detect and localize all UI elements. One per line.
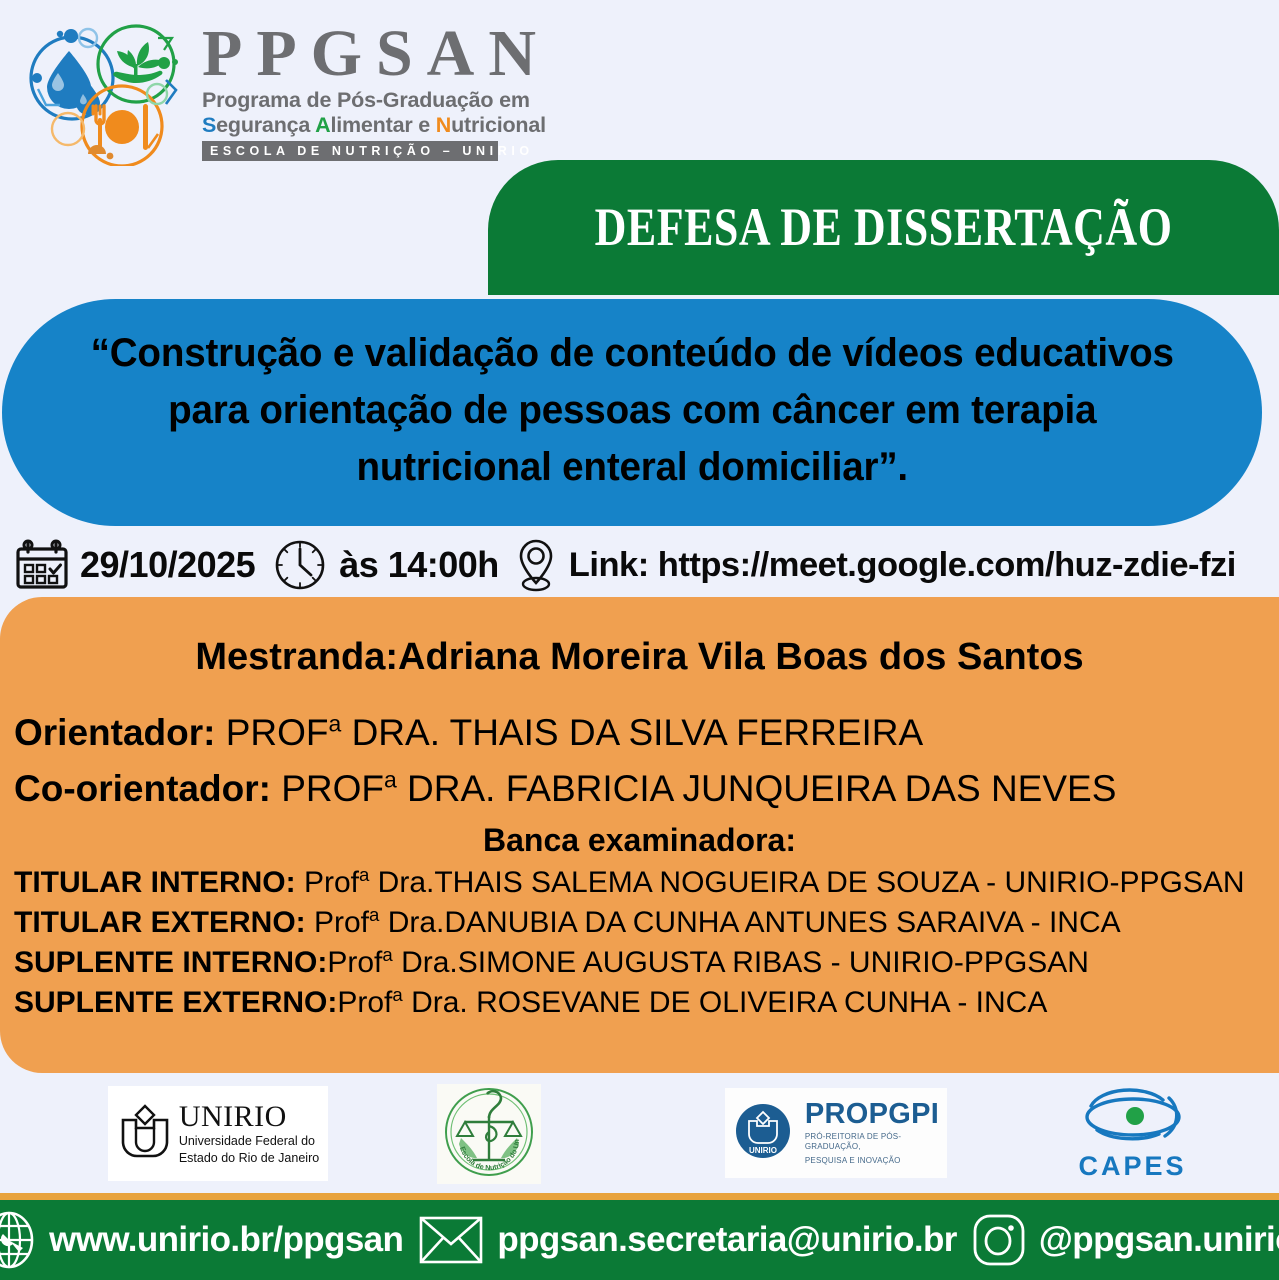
- footer-instagram[interactable]: @ppgsan.unirio: [1039, 1220, 1279, 1260]
- committee-role: TITULAR INTERNO:: [14, 866, 296, 899]
- event-time: às 14:00h: [339, 544, 499, 586]
- capes-name: CAPES: [1078, 1151, 1186, 1182]
- dissertation-title-box: “Construção e validação de conteúdo de v…: [2, 299, 1262, 526]
- advisor-label: Orientador:: [14, 712, 215, 753]
- committee-ordinal: a: [382, 944, 392, 965]
- ppgsan-emblem-icon: [14, 16, 194, 166]
- coadvisor-name: DRA. FABRICIA JUNQUEIRA DAS NEVES: [397, 768, 1117, 809]
- committee-member: TITULAR EXTERNO: Profa Dra.DANUBIA DA CU…: [14, 903, 1279, 943]
- unirio-logo: UNIRIO Universidade Federal do Estado do…: [108, 1086, 328, 1181]
- logo-school-bar: ESCOLA DE NUTRIÇÃO – UNIRIO: [202, 141, 498, 161]
- propgpi-logo-text: PROPGPI PRÓ-REITORIA DE PÓS-GRADUAÇÃO, P…: [805, 1100, 939, 1166]
- advisor-ordinal: a: [329, 710, 342, 736]
- committee-member: TITULAR INTERNO: Profa Dra.THAIS SALEMA …: [14, 863, 1279, 903]
- event-meta-row: 29/10/2025 às 14:00h Link: https://meet.…: [14, 536, 1274, 594]
- ppgsan-logo-text: PPGSAN Programa de Pós-Graduação em Segu…: [202, 21, 550, 162]
- capes-ellipse-icon: [1073, 1086, 1193, 1153]
- dissertation-title-line-2: para orientação de pessoas com câncer em…: [90, 382, 1173, 439]
- logo-line-2: Segurança Alimentar e Nutricional: [202, 113, 550, 138]
- envelope-icon: [419, 1214, 483, 1266]
- footer-contact-bar: www.unirio.br/ppgsan ppgsan.secretaria@u…: [0, 1200, 1279, 1280]
- student-label: Mestranda:: [195, 636, 398, 678]
- committee-ordinal: a: [392, 984, 402, 1005]
- unirio-logo-text: UNIRIO Universidade Federal do Estado do…: [179, 1102, 319, 1166]
- committee-role: SUPLENTE INTERNO:: [14, 946, 327, 979]
- capes-logo: CAPES: [1060, 1086, 1205, 1182]
- footer-stripe: [0, 1193, 1279, 1200]
- location-pin-icon: [513, 537, 559, 593]
- committee-name: Dra.SIMONE AUGUSTA RIBAS - UNIRIO-PPGSAN: [393, 946, 1089, 979]
- unirio-subtitle-2: Estado do Rio de Janeiro: [179, 1151, 319, 1166]
- dissertation-title-line-3: nutricional enteral domiciliar”.: [90, 439, 1173, 496]
- unirio-subtitle-1: Universidade Federal do: [179, 1134, 319, 1149]
- calendar-icon: [14, 539, 70, 591]
- advisor-prefix: PROF: [226, 712, 329, 753]
- poster-root: PPGSAN Programa de Pós-Graduação em Segu…: [0, 0, 1279, 1280]
- meeting-link[interactable]: Link: https://meet.google.com/huz-zdie-f…: [569, 546, 1236, 585]
- student-name: Adriana Moreira Vila Boas dos Santos: [398, 636, 1084, 678]
- clock-icon: [273, 538, 327, 592]
- instagram-icon: [971, 1212, 1027, 1268]
- coadvisor-row: Co-orientador: PROFa DRA. FABRICIA JUNQU…: [0, 761, 1279, 817]
- sponsor-logos: UNIRIO Universidade Federal do Estado do…: [0, 1082, 1279, 1187]
- logo-line-1: Programa de Pós-Graduação em: [202, 88, 550, 113]
- logo-acronym: PPGSAN: [202, 23, 550, 86]
- student-row: Mestranda:Adriana Moreira Vila Boas dos …: [0, 637, 1279, 679]
- committee-name: Dra. ROSEVANE DE OLIVEIRA CUNHA - INCA: [403, 986, 1048, 1019]
- committee-prefix: Prof: [296, 866, 359, 899]
- globe-icon: [0, 1210, 35, 1270]
- dissertation-title-line-1: “Construção e validação de conteúdo de v…: [90, 325, 1173, 382]
- committee-member: SUPLENTE INTERNO:Profa Dra.SIMONE AUGUST…: [14, 943, 1279, 983]
- committee-prefix: Prof: [327, 946, 382, 979]
- footer-email[interactable]: ppgsan.secretaria@unirio.br: [497, 1220, 956, 1260]
- propgpi-logo: UNIRIO PROPGPI PRÓ-REITORIA DE PÓS-GRADU…: [725, 1088, 947, 1178]
- advisor-name: DRA. THAIS DA SILVA FERREIRA: [341, 712, 923, 753]
- ppgsan-logo: PPGSAN Programa de Pós-Graduação em Segu…: [14, 16, 514, 166]
- committee-prefix: Prof: [306, 906, 369, 939]
- propgpi-subtitle-2: PESQUISA E INOVAÇÃO: [805, 1156, 939, 1166]
- defense-banner: DEFESA DE DISSERTAÇÃO: [488, 160, 1279, 295]
- committee-role: TITULAR EXTERNO:: [14, 906, 306, 939]
- coadvisor-prefix: PROF: [281, 768, 384, 809]
- committee-member: SUPLENTE EXTERNO:Profa Dra. ROSEVANE DE …: [14, 983, 1279, 1023]
- committee-ordinal: a: [369, 904, 379, 925]
- committee-name: Dra.THAIS SALEMA NOGUEIRA DE SOUZA - UNI…: [369, 866, 1244, 899]
- unirio-name: UNIRIO: [179, 1102, 319, 1132]
- svg-text:UNIRIO: UNIRIO: [749, 1146, 777, 1155]
- coadvisor-ordinal: a: [384, 767, 397, 793]
- committee-name: Dra.DANUBIA DA CUNHA ANTUNES SARAIVA - I…: [379, 906, 1120, 939]
- escola-nutricao-seal-icon: Escola de Nutrição do Unirio: [443, 1086, 535, 1183]
- propgpi-name: PROPGPI: [805, 1100, 939, 1129]
- committee-role: SUPLENTE EXTERNO:: [14, 986, 337, 1019]
- defense-banner-title: DEFESA DE DISSERTAÇÃO: [595, 196, 1173, 258]
- footer-website[interactable]: www.unirio.br/ppgsan: [49, 1220, 403, 1260]
- committee-title: Banca examinadora:: [0, 821, 1279, 859]
- details-panel: Mestranda:Adriana Moreira Vila Boas dos …: [0, 597, 1279, 1073]
- unirio-crest-icon: [117, 1102, 173, 1165]
- committee-prefix: Prof: [337, 986, 392, 1019]
- committee-ordinal: a: [359, 864, 369, 885]
- coadvisor-label: Co-orientador:: [14, 768, 271, 809]
- propgpi-crest-icon: UNIRIO: [733, 1101, 793, 1166]
- advisor-row: Orientador: PROFa DRA. THAIS DA SILVA FE…: [0, 705, 1279, 761]
- committee-list: TITULAR INTERNO: Profa Dra.THAIS SALEMA …: [0, 863, 1279, 1023]
- dissertation-title: “Construção e validação de conteúdo de v…: [90, 325, 1173, 495]
- escola-nutricao-logo: Escola de Nutrição do Unirio: [437, 1084, 541, 1184]
- event-date: 29/10/2025: [80, 544, 255, 586]
- propgpi-subtitle-1: PRÓ-REITORIA DE PÓS-GRADUAÇÃO,: [805, 1132, 939, 1153]
